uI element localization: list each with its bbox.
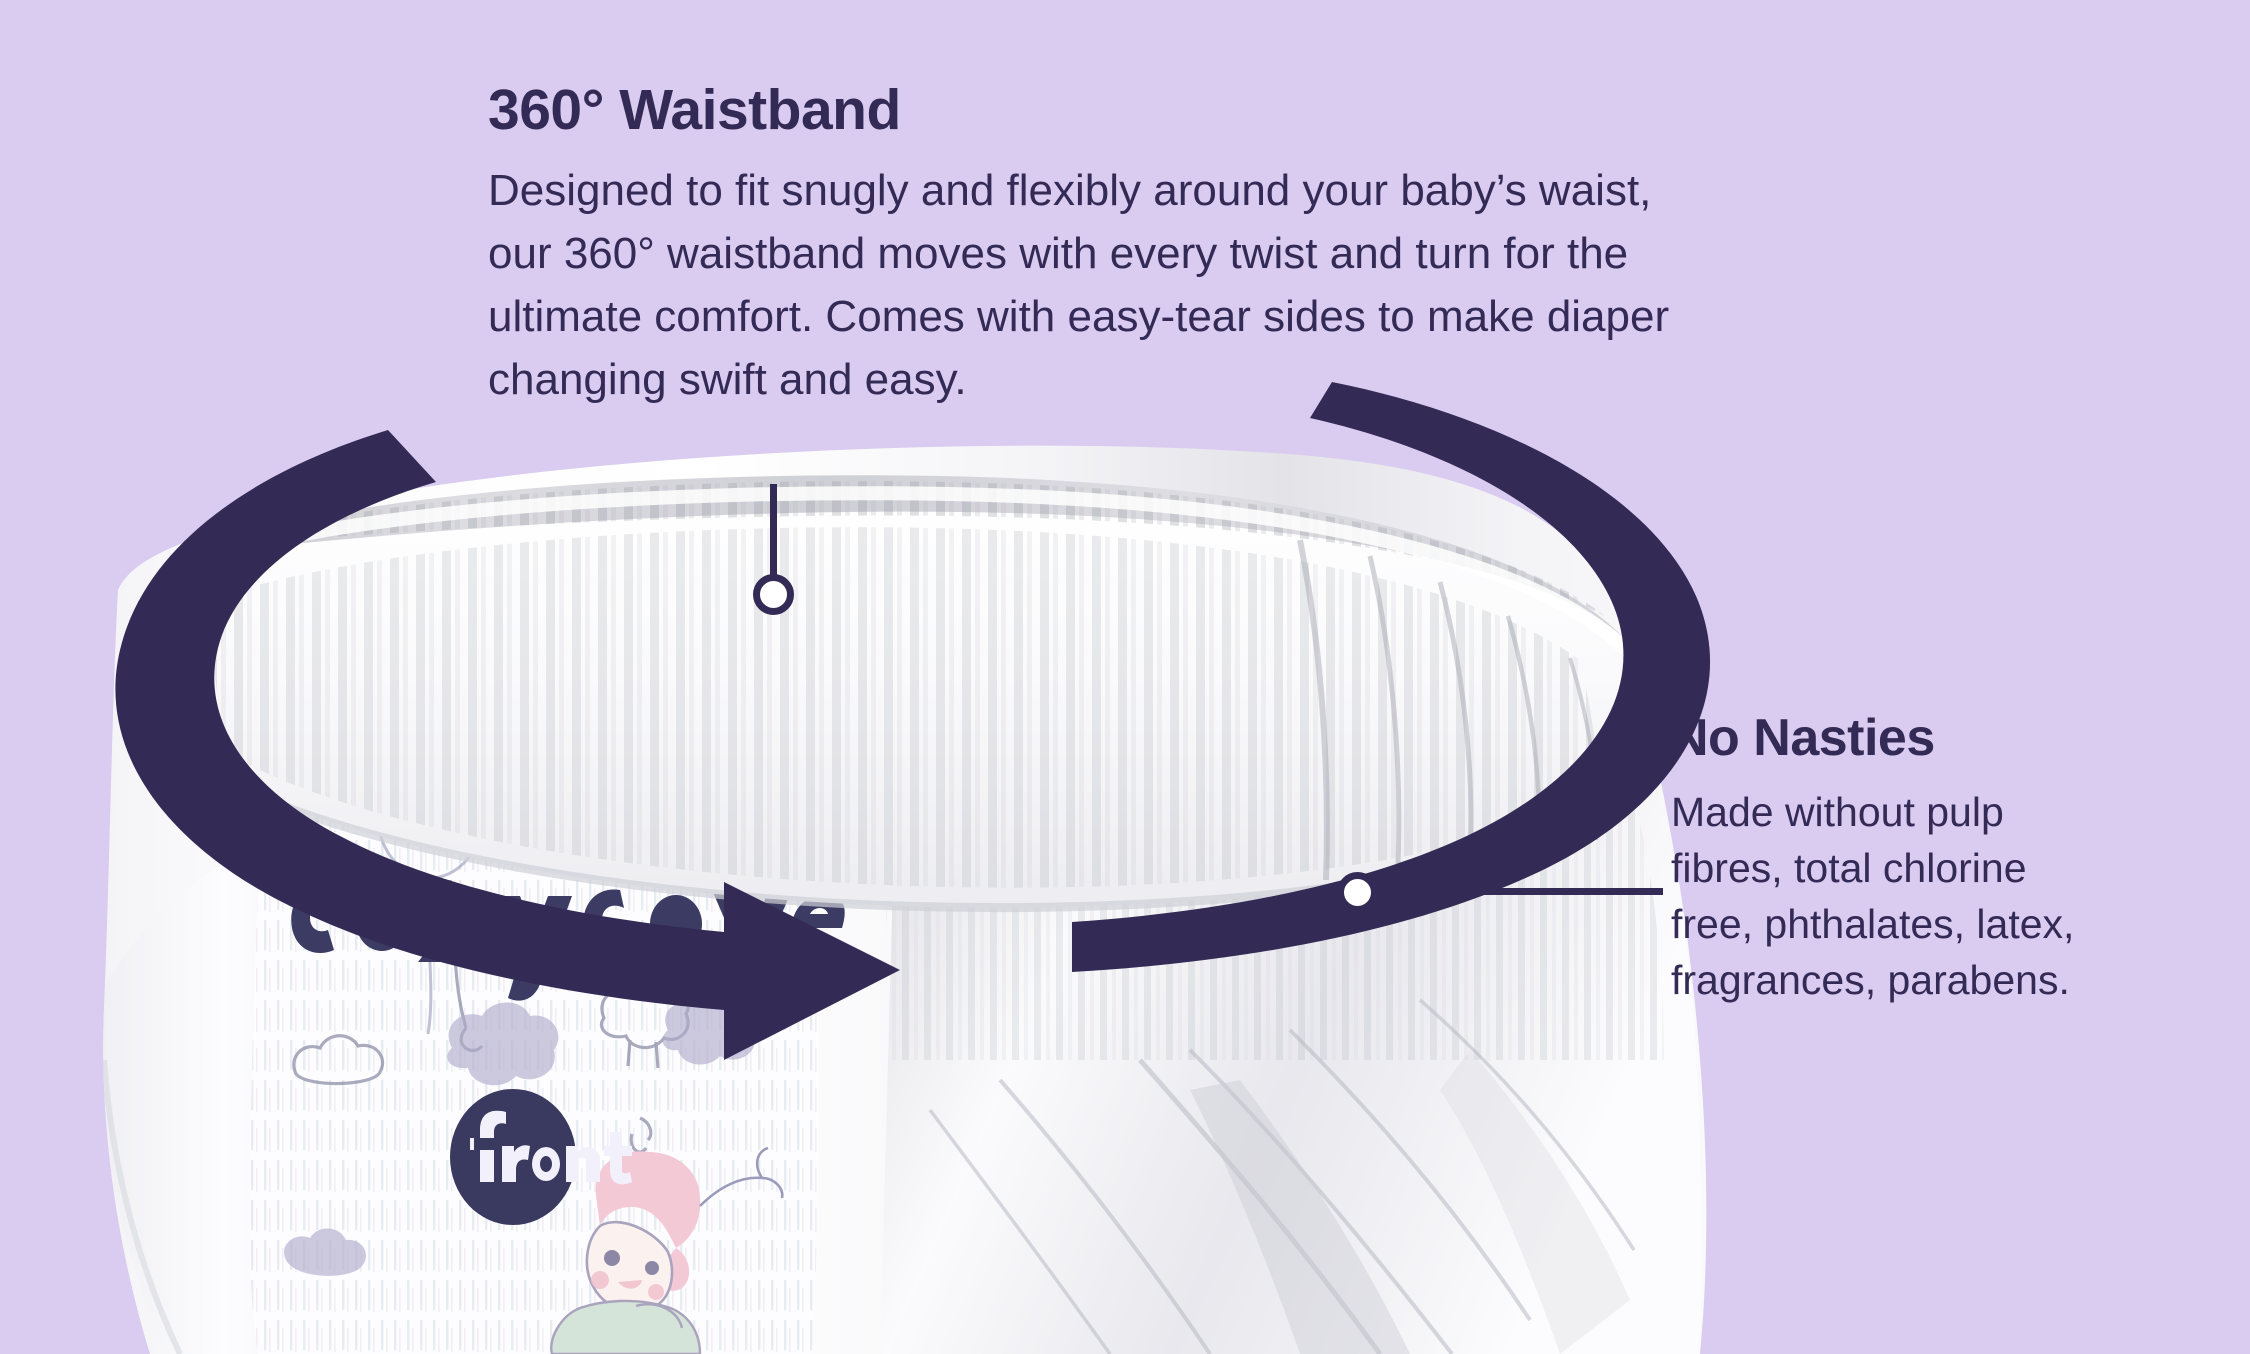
callout-360-waistband-title: 360° Waistband [488,82,1948,139]
waistband-leader-line [770,484,777,584]
body-line: Designed to fit snugly and flexibly arou… [488,169,1948,213]
body-line: ultimate comfort. Comes with easy-tear s… [488,295,1948,339]
body-line: Made without pulp [1671,792,2250,833]
body-line: free, phthalates, latex, [1671,904,2250,945]
nasties-leader-ring-marker [1337,872,1378,913]
body-line: our 360° waistband moves with every twis… [488,232,1948,276]
waistband-leader-ring-marker [753,574,794,615]
callout-no-nasties-title: No Nasties [1671,712,2250,764]
callout-no-nasties-body: Made without pulp fibres, total chlorine… [1671,792,2250,1001]
body-line: fragrances, parabens. [1671,960,2250,1001]
body-line: changing swift and easy. [488,358,1948,402]
body-line: fibres, total chlorine [1671,848,2250,889]
callout-no-nasties: No Nasties Made without pulp fibres, tot… [1671,712,2250,1016]
infographic-canvas: 360° Waistband Designed to fit snugly an… [0,0,2250,1354]
waistband [170,475,1638,907]
nasties-leader-line [1367,888,1663,895]
callout-360-waistband: 360° Waistband Designed to fit snugly an… [488,82,1948,421]
callout-360-waistband-body: Designed to fit snugly and flexibly arou… [488,169,1948,402]
